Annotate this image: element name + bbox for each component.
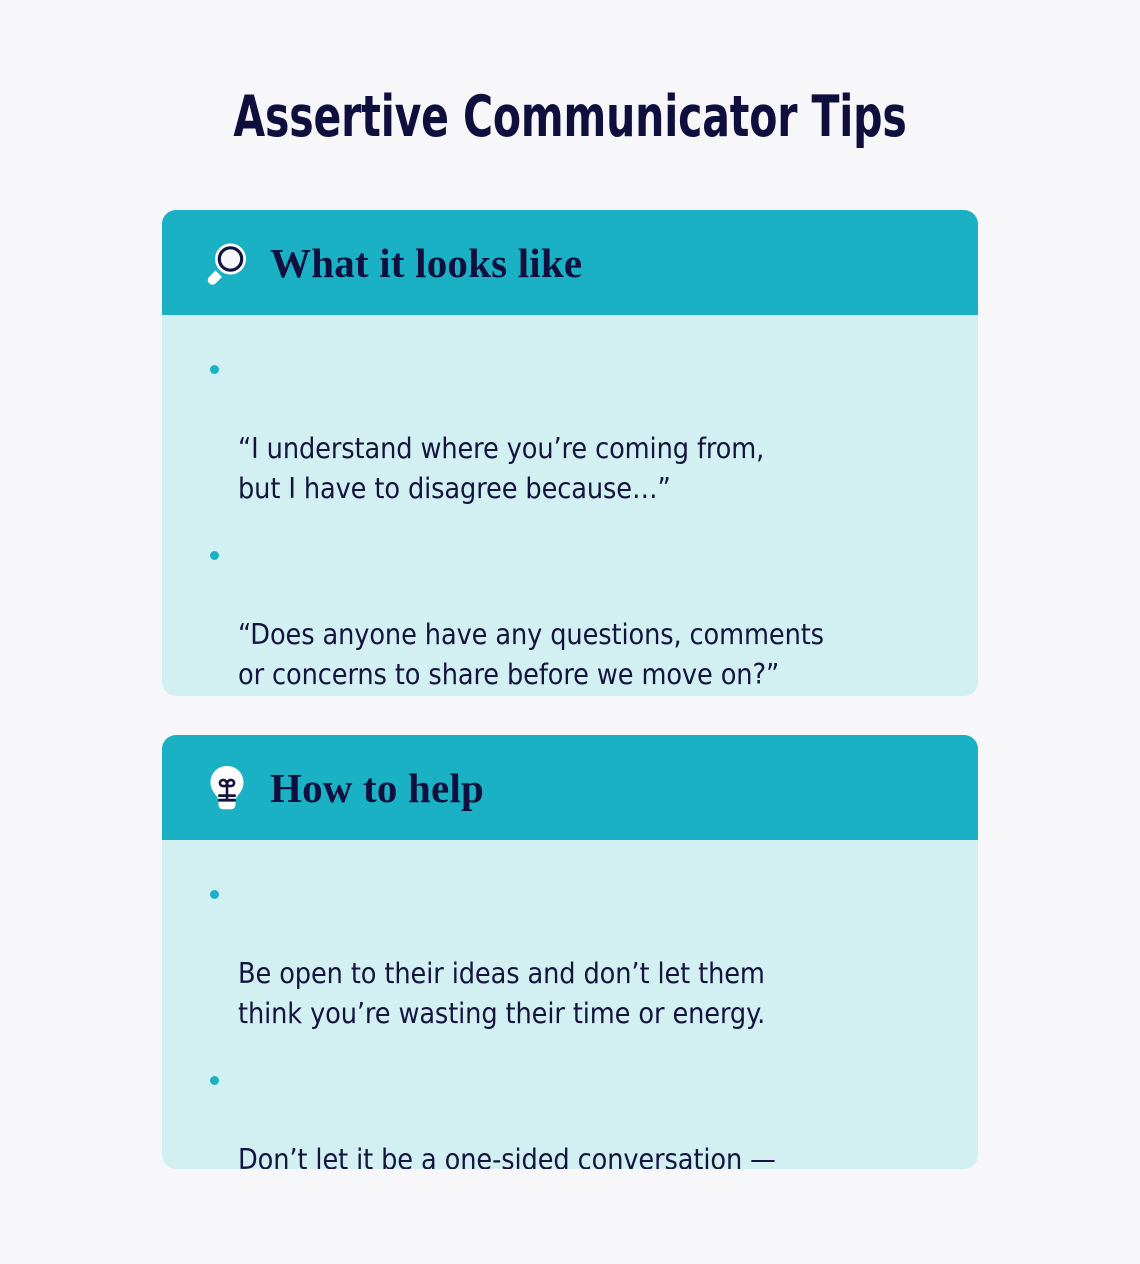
card-how-to-help: How to help Be open to their ideas and d… <box>162 735 978 1169</box>
bullet-dot-icon <box>210 890 219 899</box>
card-title-what-it-looks-like: What it looks like <box>270 240 582 286</box>
card-body-what-it-looks-like: “I understand where you’re coming from, … <box>162 315 978 696</box>
list-item: “I understand where you’re coming from, … <box>200 349 930 509</box>
list-item: “Does anyone have any questions, comment… <box>200 535 930 695</box>
list-item-text: Don’t let it be a one-sided conversation… <box>238 1143 811 1169</box>
bullet-dot-icon <box>210 551 219 560</box>
card-title-how-to-help: How to help <box>270 765 484 811</box>
list-item-text: “Does anyone have any questions, comment… <box>238 618 824 691</box>
bullet-dot-icon <box>210 1076 219 1085</box>
list-item: Don’t let it be a one-sided conversation… <box>200 1060 930 1169</box>
card-header-how-to-help: How to help <box>162 735 978 840</box>
card-body-how-to-help: Be open to their ideas and don’t let the… <box>162 840 978 1169</box>
bullet-list-what-it-looks-like: “I understand where you’re coming from, … <box>200 349 930 696</box>
card-header-what-it-looks-like: What it looks like <box>162 210 978 315</box>
bullet-list-how-to-help: Be open to their ideas and don’t let the… <box>200 874 930 1169</box>
bullet-dot-icon <box>210 365 219 374</box>
list-item: Be open to their ideas and don’t let the… <box>200 874 930 1034</box>
lightbulb-icon <box>204 764 250 812</box>
page-title: Assertive Communicator Tips <box>114 84 1026 150</box>
list-item-text: Be open to their ideas and don’t let the… <box>238 957 765 1030</box>
infographic-page: Assertive Communicator Tips What it look… <box>0 0 1140 1264</box>
magnifying-glass-icon <box>204 239 250 287</box>
list-item-text: “I understand where you’re coming from, … <box>238 432 764 505</box>
card-what-it-looks-like: What it looks like “I understand where y… <box>162 210 978 696</box>
